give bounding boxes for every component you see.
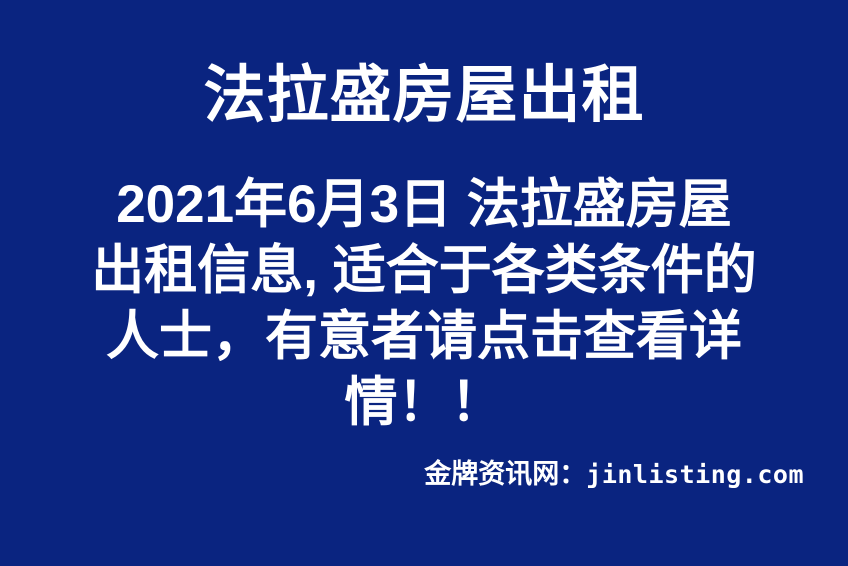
footer-credit: 金牌资讯网：jinlisting.com bbox=[0, 452, 848, 491]
footer-brand-label: 金牌资讯网： bbox=[424, 459, 586, 489]
poster-canvas: 法拉盛房屋出租 2021年6月3日 法拉盛房屋 出租信息, 适合于各类条件的 人… bbox=[0, 0, 848, 566]
body-line-2: 出租信息, 适合于各类条件的 bbox=[24, 238, 824, 304]
body-line-3: 人士，有意者请点击查看详 bbox=[24, 304, 824, 370]
body-line-4: 情！！ bbox=[24, 370, 824, 436]
body-line-1: 2021年6月3日 法拉盛房屋 bbox=[24, 172, 824, 238]
page-title: 法拉盛房屋出租 bbox=[0, 58, 848, 134]
poster-body-text: 2021年6月3日 法拉盛房屋 出租信息, 适合于各类条件的 人士，有意者请点击… bbox=[24, 172, 824, 436]
footer-website-url: jinlisting.com bbox=[586, 460, 804, 489]
